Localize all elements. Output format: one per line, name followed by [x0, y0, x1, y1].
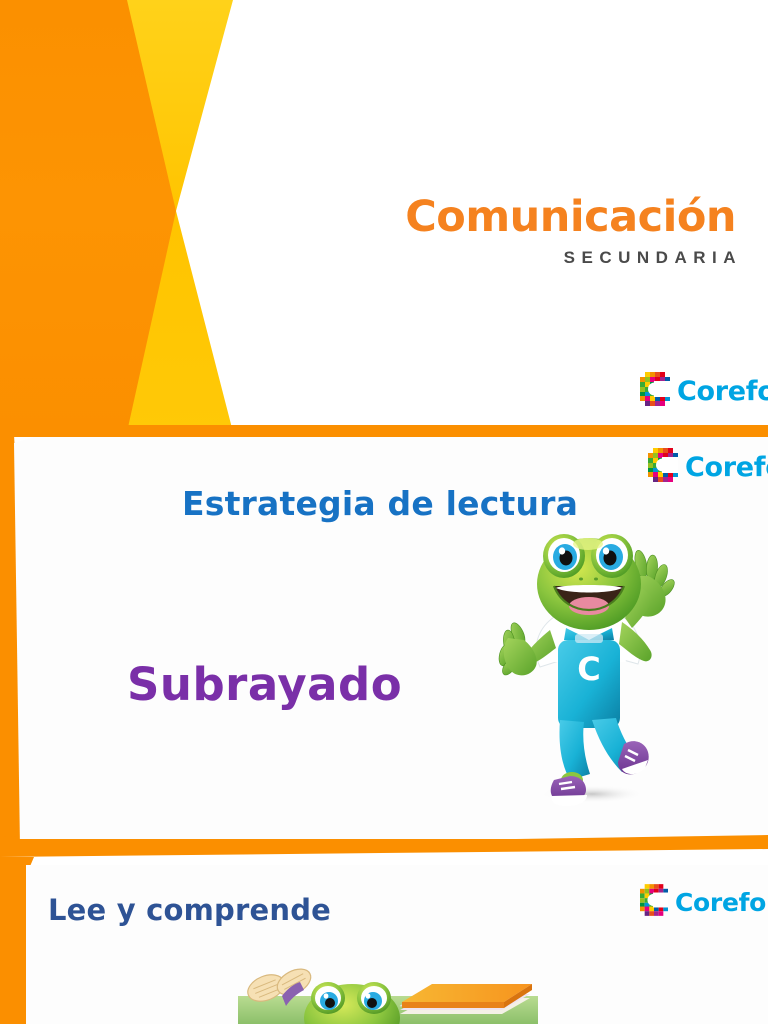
- corefo-logo-text: Corefo: [675, 890, 766, 915]
- corefo-logo-slide2: Corefo: [648, 448, 768, 487]
- corefo-mosaic-c-icon: [640, 884, 668, 921]
- slide2-heading: Estrategia de lectura: [182, 484, 578, 523]
- reading-scene-illustration: [232, 958, 544, 1024]
- corefo-logo-text: Corefo: [677, 378, 768, 405]
- slide-cover: Comunicación SECUNDARIA: [0, 0, 768, 432]
- brand-subtitle: SECUNDARIA: [405, 248, 742, 268]
- slide2-subtitle: Subrayado: [127, 658, 402, 711]
- corefo-mosaic-c-icon: [640, 372, 670, 411]
- brand-title: Comunicación: [405, 196, 736, 239]
- corefo-logo-slide3: Corefo: [640, 884, 766, 921]
- corefo-mosaic-c-icon: [648, 448, 678, 487]
- corefo-logo-text: Corefo: [685, 454, 768, 481]
- slide3-heading: Lee y comprende: [48, 893, 331, 927]
- overalls-letter: C: [577, 650, 600, 688]
- slide2-frame-top: [0, 425, 768, 437]
- frog-peeking-head: [304, 982, 400, 1024]
- corefo-logo-slide1: Corefo: [640, 372, 768, 411]
- frog-mascot-illustration: C: [492, 522, 682, 812]
- presentation-page: Comunicación SECUNDARIA: [0, 0, 768, 1024]
- brand-lockup: Comunicación SECUNDARIA: [405, 196, 736, 268]
